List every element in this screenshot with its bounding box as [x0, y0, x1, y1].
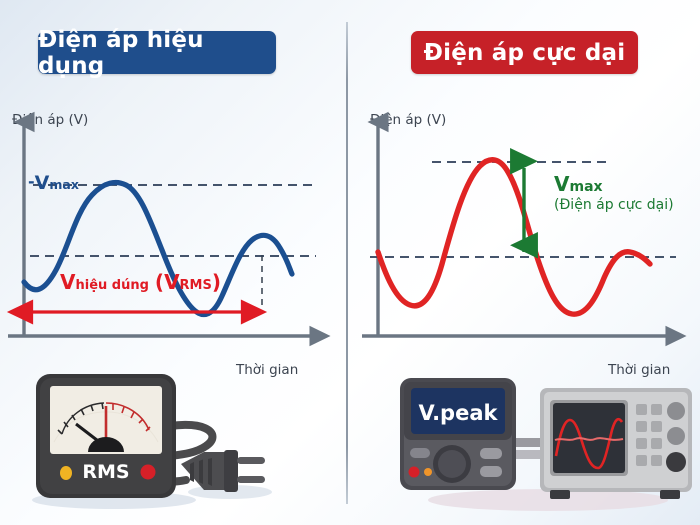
vmax-right-letter: V [554, 172, 569, 196]
label-vmax-left: -Vmax [28, 172, 79, 194]
meter-lamp-red [409, 467, 420, 478]
scope-foot-left [550, 490, 570, 499]
vrms-subscript: hiệu dúng [75, 278, 148, 293]
chart-peak [346, 100, 700, 360]
power-plug [181, 450, 265, 492]
digital-meter-and-oscilloscope: V.peak [398, 374, 698, 514]
vrms-paren-close: ) [212, 270, 221, 294]
digital-meter: V.peak [400, 378, 516, 490]
waveform-rms [24, 182, 292, 314]
scope-foot-right [660, 490, 680, 499]
lamp-red [141, 465, 156, 480]
lamp-amber [60, 466, 72, 480]
title-badge-rms: Điện áp hiệu dụng [38, 31, 276, 74]
vmax-right-subscript: max [569, 179, 602, 195]
vrms-paren-open: (V [149, 270, 180, 294]
meter-lcd-label: V.peak [419, 401, 499, 425]
illustration-root: Điện áp hiệu dụng Điện áp (V) Thời gian [0, 0, 700, 525]
oscilloscope [540, 388, 692, 499]
panel-rms: Điện áp hiệu dụng Điện áp (V) Thời gian [0, 0, 346, 525]
device-shadow [428, 489, 668, 511]
meter-button-1 [480, 448, 502, 459]
vrms-paren-subscript: RMS [180, 278, 212, 293]
meter-lamp-amber [424, 468, 432, 476]
meter-button-3 [410, 448, 430, 458]
vrms-letter: V [60, 270, 75, 294]
scope-knob-2 [667, 427, 685, 445]
vmax-dash-left: - [28, 172, 35, 191]
analog-multimeter: RMS [18, 372, 298, 512]
label-vrms: Vhiệu dúng(VRMS) [60, 270, 221, 294]
vmax-right-text: Vmax [554, 172, 603, 196]
vmax-letter-left: V [35, 172, 50, 194]
meter-screen-label: RMS [82, 461, 129, 483]
label-vmax-right: Vmax (Điện áp cực dại) [554, 172, 674, 213]
panel-peak: Điện áp cực dại Điện áp (V) Thời gian [346, 0, 700, 525]
scope-knob-3 [666, 452, 686, 472]
scope-knob-1 [667, 402, 685, 420]
title-badge-peak: Điện áp cực dại [411, 31, 638, 74]
meter-button-2 [480, 466, 502, 477]
vmax-subscript-left: max [49, 177, 79, 192]
chart-rms [0, 100, 346, 360]
vmax-right-note: (Điện áp cực dại) [554, 197, 674, 213]
